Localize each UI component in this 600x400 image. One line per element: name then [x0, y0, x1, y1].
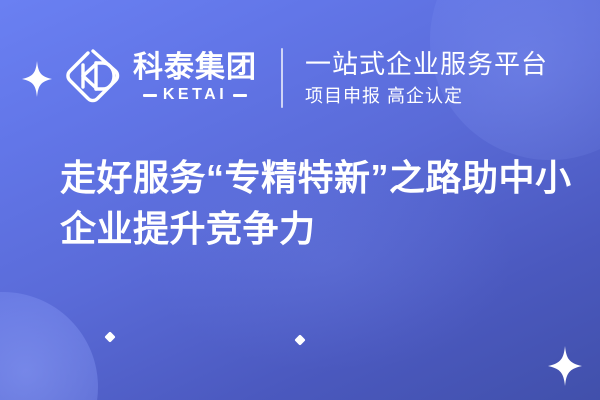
tagline-secondary: 项目申报 高企认定 [305, 86, 548, 107]
sparkle-star-icon [22, 61, 52, 97]
brand-name-en: KETAI [157, 87, 233, 103]
brand-rule-left [143, 94, 157, 97]
sparkle-star-icon [548, 346, 582, 386]
brand-name-cn: 科泰集团 [133, 53, 257, 84]
diamond-dot-icon [294, 334, 305, 345]
headline-line-1: 走好服务“专精特新”之路助中小 [60, 152, 560, 203]
brand-rule-right [233, 94, 247, 97]
background-glow-left [0, 292, 98, 400]
headline: 走好服务“专精特新”之路助中小 企业提升竞争力 [60, 152, 560, 254]
brand-name-en-row: KETAI [133, 87, 257, 103]
banner-header: 科泰集团 KETAI 一站式企业服务平台 项目申报 高企认定 [22, 40, 548, 116]
promo-banner: 科泰集团 KETAI 一站式企业服务平台 项目申报 高企认定 走好服务“专精特新… [0, 0, 600, 400]
headline-line-2: 企业提升竞争力 [60, 203, 560, 254]
tagline-block: 一站式企业服务平台 项目申报 高企认定 [305, 50, 548, 107]
ketai-diamond-kd-logo-icon [62, 45, 124, 112]
tagline-primary: 一站式企业服务平台 [305, 50, 548, 79]
header-divider [281, 48, 283, 108]
diamond-dot-icon [104, 331, 115, 342]
brand-lockup: 科泰集团 KETAI [133, 53, 257, 104]
